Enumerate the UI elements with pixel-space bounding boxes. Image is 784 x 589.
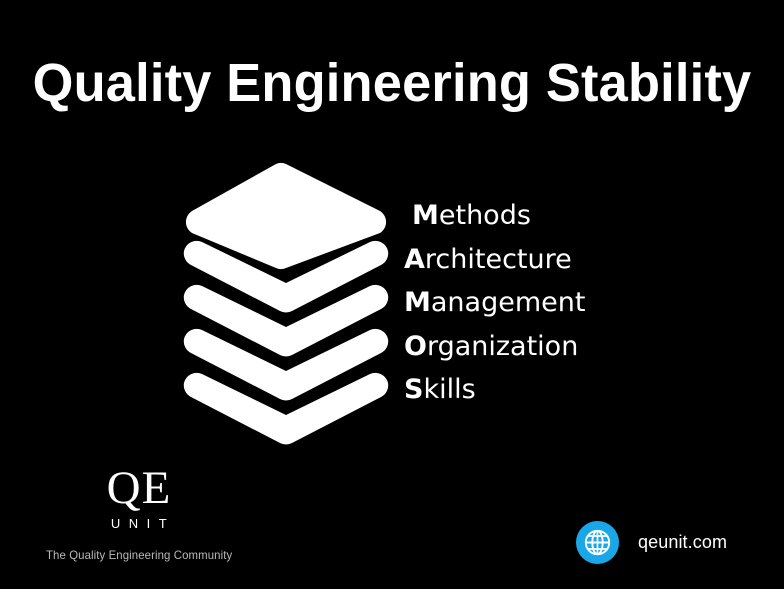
layer-rest: anagement [431,287,586,318]
layer-item-organization: Organization [404,325,744,369]
website-badge[interactable]: qeunit.com [576,521,727,564]
layers-stack-icon [180,160,392,450]
logo-qe-text: QE [46,462,232,514]
logo-mark: QE UNIT [46,462,232,534]
qe-unit-logo: QE UNIT The Quality Engineering Communit… [46,462,242,562]
layer-initial: M [404,287,431,318]
globe-icon [576,521,619,564]
page-title: Quality Engineering Stability [12,52,772,114]
logo-tagline: The Quality Engineering Community [46,548,232,562]
logo-unit-text: UNIT [46,514,232,534]
layer-item-skills: Skills [404,368,744,412]
layer-rest: rganization [427,331,578,362]
slide-canvas: Quality Engineering Stability Methods Ar… [0,0,784,589]
layer-rest: ethods [439,200,531,231]
layer-initial: A [404,244,425,275]
layer-item-methods: Methods [404,194,744,238]
layer-item-architecture: Architecture [404,238,744,282]
layer-initial: M [412,200,439,231]
website-url[interactable]: qeunit.com [638,532,727,553]
layer-rest: rchitecture [425,244,572,275]
layer-item-management: Management [404,281,744,325]
layer-rest: kills [423,374,475,405]
layer-initial: S [404,374,423,405]
layer-label-list: Methods Architecture Management Organiza… [404,194,744,412]
layer-initial: O [404,331,427,362]
